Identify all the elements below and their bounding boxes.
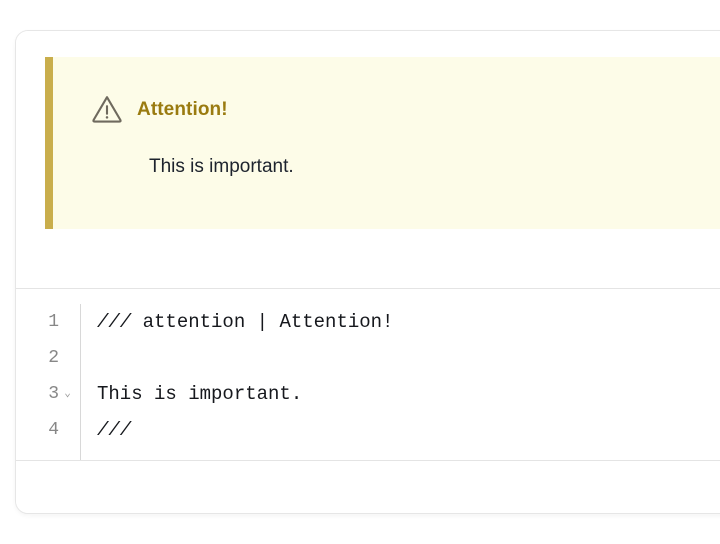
code-token: /// bbox=[97, 412, 131, 448]
attention-admonition: Attention! This is important. bbox=[45, 57, 720, 229]
code-content[interactable]: /// attention | Attention! This is impor… bbox=[81, 304, 720, 460]
gutter-row: 3 ⌄ bbox=[16, 376, 80, 412]
line-number: 3 bbox=[48, 376, 59, 412]
admonition-title-row: Attention! bbox=[91, 93, 228, 125]
gutter-row: 4 bbox=[16, 412, 80, 448]
gutter-row: 1 bbox=[16, 304, 80, 340]
line-number-gutter: 1 2 3 ⌄ 4 bbox=[16, 304, 81, 460]
code-line[interactable]: /// attention | Attention! bbox=[97, 304, 720, 340]
code-line[interactable] bbox=[97, 340, 720, 376]
code-token: This is important. bbox=[97, 376, 302, 412]
preview-pane: Attention! This is important. bbox=[16, 31, 720, 289]
code-line[interactable]: /// bbox=[97, 412, 720, 448]
fold-chevron-icon[interactable]: ⌄ bbox=[59, 389, 76, 400]
admonition-title: Attention! bbox=[137, 100, 228, 119]
gutter-row: 2 bbox=[16, 340, 80, 376]
warning-triangle-icon bbox=[91, 93, 123, 125]
card-footer bbox=[16, 461, 720, 513]
code-editor[interactable]: 1 2 3 ⌄ 4 /// attention | Atte bbox=[16, 289, 720, 460]
line-number: 2 bbox=[48, 340, 59, 376]
code-line[interactable]: This is important. bbox=[97, 376, 720, 412]
code-token: /// bbox=[97, 304, 131, 340]
code-token: attention | Attention! bbox=[131, 304, 393, 340]
code-pane: 1 2 3 ⌄ 4 /// attention | Atte bbox=[16, 289, 720, 461]
admonition-body-text: This is important. bbox=[149, 156, 294, 179]
line-number: 4 bbox=[48, 412, 59, 448]
admonition-preview-card: Attention! This is important. 1 2 3 ⌄ bbox=[15, 30, 720, 514]
line-number: 1 bbox=[48, 304, 59, 340]
